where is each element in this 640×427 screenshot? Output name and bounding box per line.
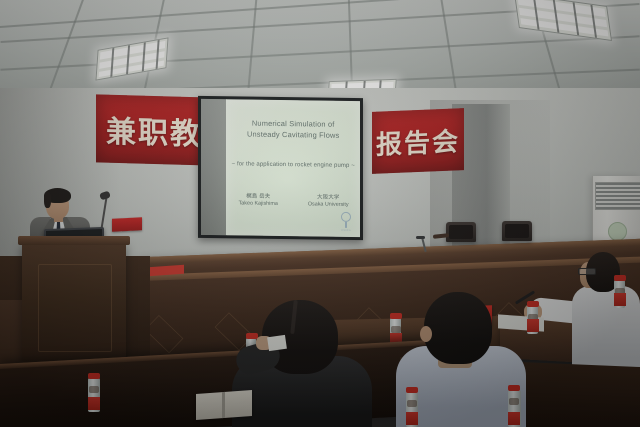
red-banner-left: 兼职教 bbox=[96, 94, 212, 165]
attendee-ear bbox=[420, 326, 432, 342]
ceiling bbox=[0, 0, 640, 96]
water-bottle bbox=[508, 390, 521, 427]
university-logo-icon: OSAKA bbox=[338, 212, 354, 232]
attendee-white-shirt-body bbox=[572, 286, 640, 376]
stage-chair bbox=[502, 221, 532, 241]
podium bbox=[22, 242, 126, 362]
red-banner-right: 报告会 bbox=[372, 108, 464, 174]
slide-title-line1: Numerical Simulation of bbox=[226, 118, 360, 129]
water-bottle bbox=[614, 280, 625, 308]
water-bottle bbox=[406, 392, 418, 427]
projection-screen: Numerical Simulation of Unsteady Cavitat… bbox=[198, 96, 363, 240]
slide-affiliation-en: Osaka University bbox=[300, 201, 356, 208]
ac-badge-icon bbox=[608, 222, 627, 241]
screen-unused-area bbox=[201, 99, 226, 235]
slide-affiliation-jp: 大阪大学 bbox=[300, 192, 356, 201]
ac-vent-grill bbox=[595, 182, 640, 210]
table-microphone-icon bbox=[416, 236, 425, 239]
presentation-slide: Numerical Simulation of Unsteady Cavitat… bbox=[226, 99, 360, 237]
slide-author-jp: 梶島 岳夫 bbox=[230, 191, 286, 200]
attendee-paper bbox=[267, 335, 287, 351]
open-notebook bbox=[196, 390, 252, 420]
stage-chair bbox=[446, 222, 476, 242]
water-bottle bbox=[527, 306, 538, 334]
lecture-room-photo: 兼职教 报告会 Numerical Simulation of Unsteady… bbox=[0, 0, 640, 427]
ceiling-light-fixture bbox=[514, 0, 612, 41]
slide-author-en: Takeo Kajishima bbox=[230, 200, 286, 207]
slide-subtitle: ~ for the application to rocket engine p… bbox=[226, 161, 360, 169]
attendee-head bbox=[424, 292, 492, 364]
water-bottle bbox=[88, 378, 100, 412]
eyeglasses-icon bbox=[578, 268, 596, 275]
speaker-name-sign bbox=[112, 217, 142, 232]
ceiling-light-fixture bbox=[95, 37, 168, 80]
banner-right-text: 报告会 bbox=[376, 121, 460, 162]
logo-caption: OSAKA bbox=[341, 229, 351, 232]
slide-title-line2: Unsteady Cavitating Flows bbox=[226, 129, 360, 140]
banner-left-text: 兼职教 bbox=[106, 107, 202, 154]
